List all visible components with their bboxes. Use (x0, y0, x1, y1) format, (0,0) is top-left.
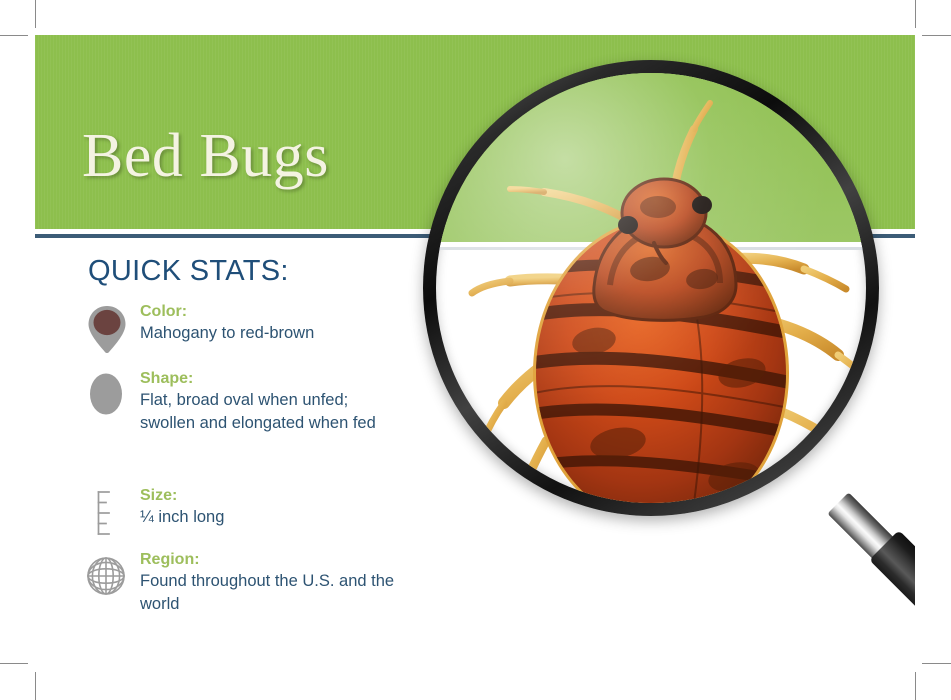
crop-mark-top-left-vertical (35, 0, 36, 28)
stat-value: Found throughout the U.S. and the world (140, 570, 395, 615)
stat-label: Shape: (140, 368, 395, 389)
crop-mark-top-right-horizontal (922, 35, 951, 36)
stat-value: Flat, broad oval when unfed; swollen and… (140, 389, 395, 434)
stat-value: Mahogany to red-brown (140, 322, 395, 345)
crop-mark-bottom-left-vertical (35, 672, 36, 700)
crop-mark-bottom-right-horizontal (922, 663, 951, 664)
stat-label: Size: (140, 485, 395, 506)
crop-mark-bottom-right-vertical (915, 672, 916, 700)
crop-mark-top-left-horizontal (0, 35, 28, 36)
color-drop-icon (85, 303, 129, 355)
magnifier-lens-rim (423, 60, 879, 516)
oval-shape-icon (85, 370, 129, 422)
stat-label: Region: (140, 549, 395, 570)
infographic-page: Bed Bugs QUICK STATS: Color: Mahogany to… (0, 0, 951, 700)
page-title: Bed Bugs (82, 125, 329, 187)
magnifier-lens-glass (436, 73, 866, 503)
stat-text: Size: ¼ inch long (140, 485, 395, 529)
stat-value: ¼ inch long (140, 506, 395, 529)
crop-mark-bottom-left-horizontal (0, 663, 28, 664)
magnifying-glass-icon (395, 35, 915, 663)
stat-text: Region: Found throughout the U.S. and th… (140, 549, 395, 615)
bed-bug-photo (436, 73, 866, 503)
stat-label: Color: (140, 301, 395, 322)
quick-stats-heading: QUICK STATS: (88, 255, 289, 287)
crop-mark-top-right-vertical (915, 0, 916, 28)
globe-icon (85, 551, 129, 603)
stat-text: Shape: Flat, broad oval when unfed; swol… (140, 368, 395, 434)
pest-fact-card: Bed Bugs QUICK STATS: Color: Mahogany to… (35, 35, 915, 663)
ruler-icon (85, 487, 129, 539)
stat-text: Color: Mahogany to red-brown (140, 301, 395, 345)
